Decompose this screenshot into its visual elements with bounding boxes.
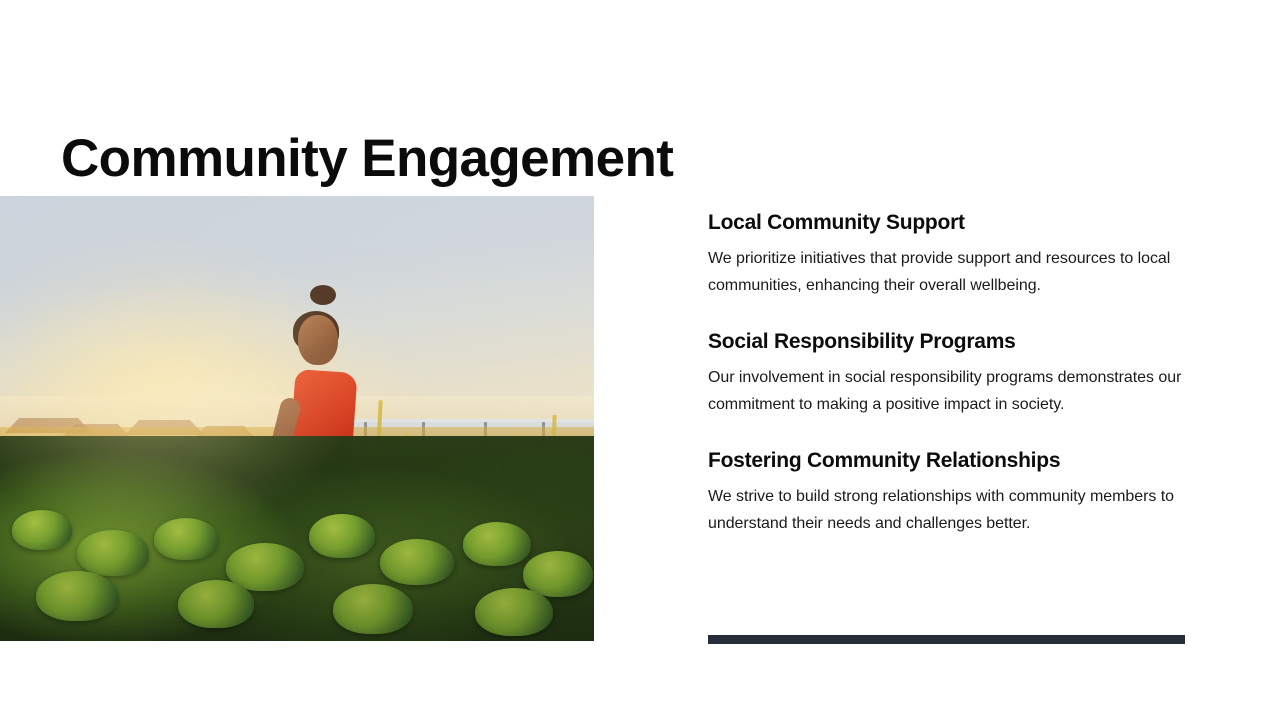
block-body: Our involvement in social responsibility… [708, 364, 1188, 418]
content-column: Local Community Support We prioritize in… [708, 210, 1188, 537]
block-heading: Social Responsibility Programs [708, 329, 1188, 355]
content-block: Local Community Support We prioritize in… [708, 210, 1188, 299]
hair-bun [310, 285, 336, 305]
block-body: We prioritize initiatives that provide s… [708, 245, 1188, 299]
head [298, 315, 338, 365]
block-heading: Local Community Support [708, 210, 1188, 236]
block-heading: Fostering Community Relationships [708, 448, 1188, 474]
photo-scene [0, 196, 594, 641]
content-block: Fostering Community Relationships We str… [708, 448, 1188, 537]
page-title: Community Engagement [61, 129, 673, 189]
accent-bar [708, 635, 1185, 644]
community-garden-photo [0, 196, 594, 641]
slide-root: Community Engagement [0, 0, 1280, 720]
content-block: Social Responsibility Programs Our invol… [708, 329, 1188, 418]
block-body: We strive to build strong relationships … [708, 483, 1188, 537]
lettuce-beds [0, 436, 594, 641]
